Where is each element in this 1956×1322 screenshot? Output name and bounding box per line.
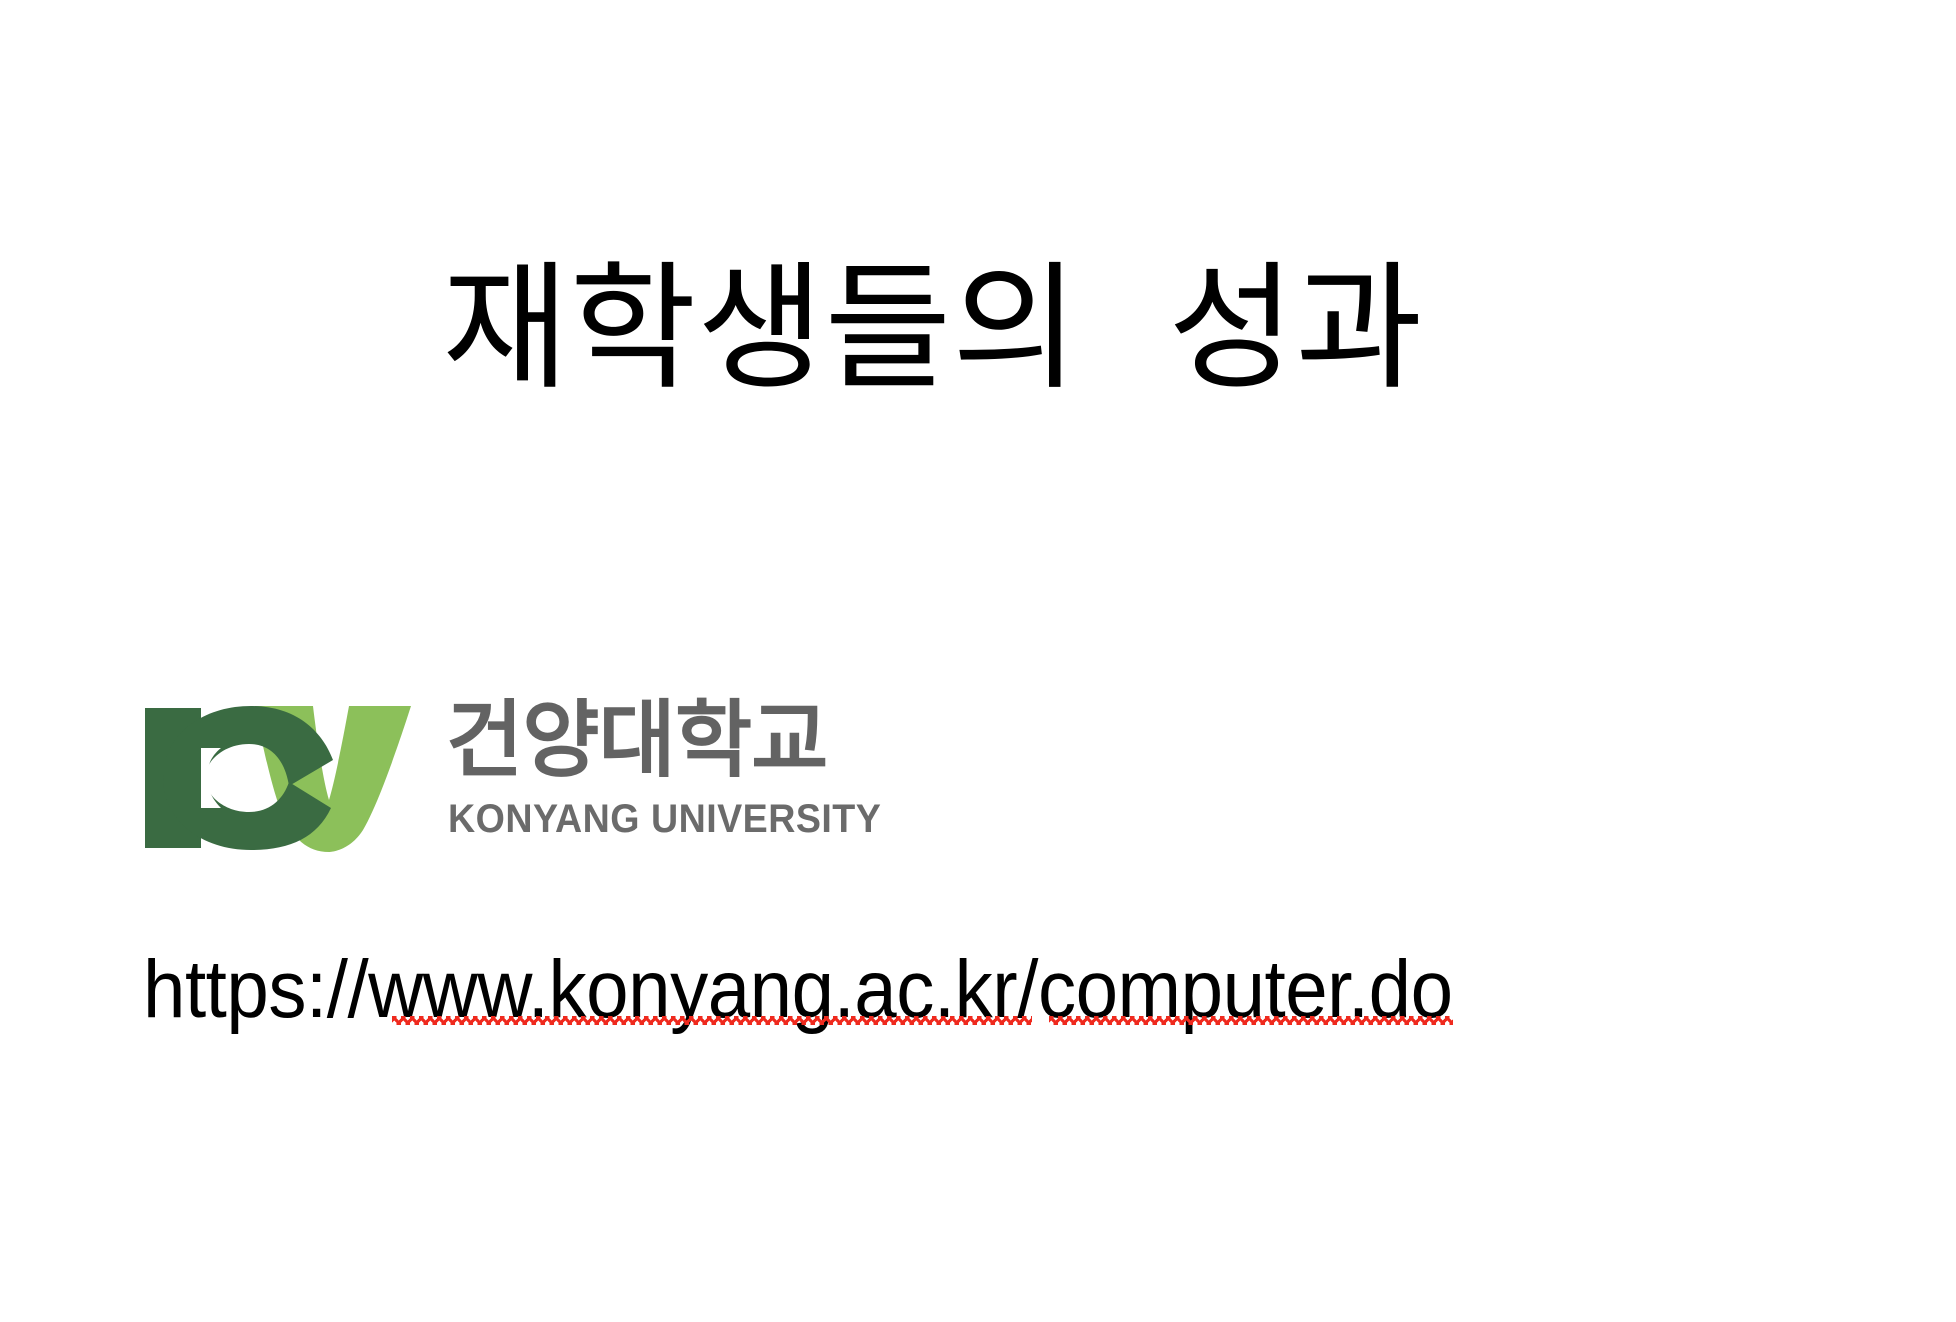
spellcheck-underline-icon <box>392 1016 1032 1025</box>
spellcheck-underline-icon <box>1049 1016 1453 1025</box>
konyang-university-logo: 건양대학교 KONYANG UNIVERSITY <box>143 700 903 860</box>
logo-wordmark-english: KONYANG UNIVERSITY <box>448 799 881 839</box>
ky-monogram-icon <box>143 704 418 852</box>
logo-wordmark-korean: 건양대학교 <box>446 698 827 782</box>
presentation-slide: 재학생들의 성과 건양대학교 KONYANG UNIVERSITY https:… <box>0 0 1956 1322</box>
logo-wordmark: 건양대학교 KONYANG UNIVERSITY <box>446 700 906 855</box>
slide-title: 재학생들의 성과 <box>0 248 1865 411</box>
